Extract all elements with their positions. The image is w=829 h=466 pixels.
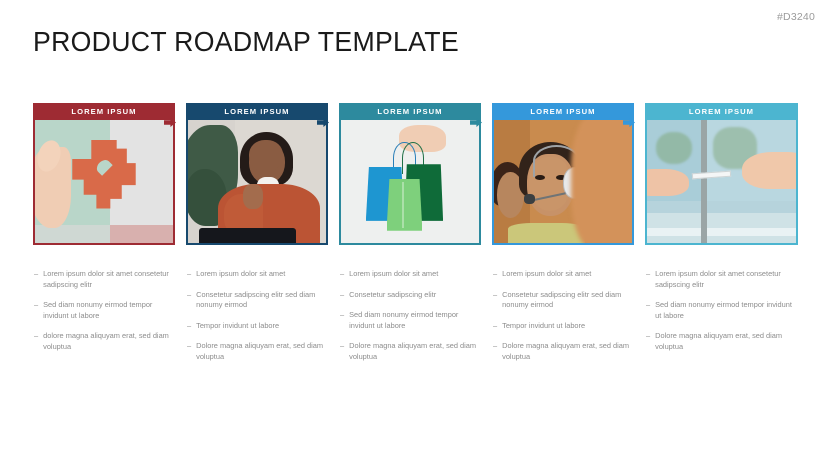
dash-bullet-icon: – <box>646 331 650 352</box>
dash-bullet-icon: – <box>187 321 191 332</box>
card-header-4: LOREM IPSUM <box>492 103 634 120</box>
list-item: – Dolore magna aliquyam erat, sed diam v… <box>493 341 634 362</box>
card-photo-frame-5 <box>645 120 798 245</box>
dash-bullet-icon: – <box>493 269 497 280</box>
bullet-text: Dolore magna aliquyam erat, sed diam vol… <box>502 341 634 362</box>
dash-bullet-icon: – <box>34 300 38 321</box>
call-center-agents-photo <box>494 120 632 243</box>
hands-exchanging-card-photo <box>647 120 796 243</box>
hand-holding-puzzle-piece-photo <box>35 120 173 243</box>
card-photo-frame-1 <box>33 120 175 245</box>
list-item: – Tempor invidunt ut labore <box>187 321 328 332</box>
bullet-list-5: – Lorem ipsum dolor sit amet consetetur … <box>645 269 798 352</box>
arrow-connector-1-to-2 <box>164 118 176 127</box>
roadmap-card-4[interactable]: LOREM IPSUM <box>492 103 634 245</box>
list-item: – Lorem ipsum dolor sit amet consetetur … <box>646 269 798 290</box>
bullet-text: Dolore magna aliquyam erat, sed diam vol… <box>196 341 328 362</box>
dash-bullet-icon: – <box>187 269 191 280</box>
bullet-text: Consetetur sadipscing elitr sed diam non… <box>502 290 634 311</box>
slide-canvas: #D3240 PRODUCT ROADMAP TEMPLATE LOREM IP… <box>0 0 829 466</box>
card-photo-frame-4 <box>492 120 634 245</box>
arrow-connector-2-to-3 <box>317 118 329 127</box>
roadmap-column-3[interactable]: LOREM IPSUM – Lorem ipsum dolor sit amet <box>339 103 492 362</box>
list-item: – Tempor invidunt ut labore <box>493 321 634 332</box>
list-item: – Consetetur sadipscing elitr sed diam n… <box>187 290 328 311</box>
dash-bullet-icon: – <box>493 341 497 362</box>
bullet-text: Sed diam nonumy eirmod tempor invidunt u… <box>43 300 175 321</box>
dash-bullet-icon: – <box>646 300 650 321</box>
hand-holding-shopping-bags-photo <box>341 120 479 243</box>
bullet-list-1: – Lorem ipsum dolor sit amet consetetur … <box>33 269 175 352</box>
list-item: – dolore magna aliquyam erat, sed diam v… <box>34 331 175 352</box>
bullet-text: Tempor invidunt ut labore <box>196 321 328 332</box>
roadmap-card-5[interactable]: LOREM IPSUM <box>645 103 798 245</box>
list-item: – Sed diam nonumy eirmod tempor invidunt… <box>340 310 481 331</box>
bullet-text: Sed diam nonumy eirmod tempor invidunt u… <box>655 300 798 321</box>
roadmap-card-3[interactable]: LOREM IPSUM <box>339 103 481 245</box>
dash-bullet-icon: – <box>493 290 497 311</box>
bullet-text: Lorem ipsum dolor sit amet <box>196 269 328 280</box>
roadmap-column-2[interactable]: LOREM IPSUM – Lorem ipsum dolor sit <box>186 103 339 362</box>
roadmap-column-1[interactable]: LOREM IPSUM – Lorem ipsum dolor sit amet… <box>33 103 186 362</box>
bullet-text: Sed diam nonumy eirmod tempor invidunt u… <box>349 310 481 331</box>
list-item: – Lorem ipsum dolor sit amet <box>340 269 481 280</box>
card-photo-frame-3 <box>339 120 481 245</box>
list-item: – Lorem ipsum dolor sit amet consetetur … <box>34 269 175 290</box>
card-photo-frame-2 <box>186 120 328 245</box>
roadmap-card-2[interactable]: LOREM IPSUM <box>186 103 328 245</box>
list-item: – Dolore magna aliquyam erat, sed diam v… <box>340 341 481 362</box>
bullet-list-4: – Lorem ipsum dolor sit amet – Consetetu… <box>492 269 634 362</box>
arrow-connector-4-to-5 <box>623 118 635 127</box>
dash-bullet-icon: – <box>34 269 38 290</box>
list-item: – Lorem ipsum dolor sit amet <box>493 269 634 280</box>
bullet-text: Dolore magna aliquyam erat, sed diam vol… <box>349 341 481 362</box>
bullet-list-3: – Lorem ipsum dolor sit amet – Consetetu… <box>339 269 481 362</box>
list-item: – Consetetur sadipscing elitr <box>340 290 481 301</box>
bullet-text: dolore magna aliquyam erat, sed diam vol… <box>43 331 175 352</box>
dash-bullet-icon: – <box>187 341 191 362</box>
card-header-3: LOREM IPSUM <box>339 103 481 120</box>
woman-at-laptop-photo <box>188 120 326 243</box>
dash-bullet-icon: – <box>646 269 650 290</box>
list-item: – Sed diam nonumy eirmod tempor invidunt… <box>34 300 175 321</box>
bullet-list-2: – Lorem ipsum dolor sit amet – Consetetu… <box>186 269 328 362</box>
bullet-text: Lorem ipsum dolor sit amet <box>349 269 481 280</box>
list-item: – Consetetur sadipscing elitr sed diam n… <box>493 290 634 311</box>
bullet-text: Lorem ipsum dolor sit amet consetetur sa… <box>655 269 798 290</box>
list-item: – Sed diam nonumy eirmod tempor invidunt… <box>646 300 798 321</box>
roadmap-column-5[interactable]: LOREM IPSUM – Lorem ipsum dolor sit amet… <box>645 103 798 362</box>
roadmap-columns-container: LOREM IPSUM – Lorem ipsum dolor sit amet… <box>33 103 798 362</box>
bullet-text: Dolore magna aliquyam erat, sed diam vol… <box>655 331 798 352</box>
list-item: – Dolore magna aliquyam erat, sed diam v… <box>646 331 798 352</box>
bullet-text: Tempor invidunt ut labore <box>502 321 634 332</box>
bullet-text: Consetetur sadipscing elitr sed diam non… <box>196 290 328 311</box>
card-header-2: LOREM IPSUM <box>186 103 328 120</box>
dash-bullet-icon: – <box>187 290 191 311</box>
list-item: – Lorem ipsum dolor sit amet <box>187 269 328 280</box>
roadmap-card-1[interactable]: LOREM IPSUM <box>33 103 175 245</box>
page-title: PRODUCT ROADMAP TEMPLATE <box>33 26 459 58</box>
card-header-1: LOREM IPSUM <box>33 103 175 120</box>
bullet-text: Lorem ipsum dolor sit amet <box>502 269 634 280</box>
card-header-5: LOREM IPSUM <box>645 103 798 120</box>
dash-bullet-icon: – <box>34 331 38 352</box>
dash-bullet-icon: – <box>340 341 344 362</box>
document-reference-code: #D3240 <box>777 11 815 23</box>
arrow-connector-3-to-4 <box>470 118 482 127</box>
list-item: – Dolore magna aliquyam erat, sed diam v… <box>187 341 328 362</box>
roadmap-column-4[interactable]: LOREM IPSUM – Lorem ips <box>492 103 645 362</box>
bullet-text: Lorem ipsum dolor sit amet consetetur sa… <box>43 269 175 290</box>
dash-bullet-icon: – <box>340 310 344 331</box>
bullet-text: Consetetur sadipscing elitr <box>349 290 481 301</box>
dash-bullet-icon: – <box>340 269 344 280</box>
dash-bullet-icon: – <box>493 321 497 332</box>
dash-bullet-icon: – <box>340 290 344 301</box>
